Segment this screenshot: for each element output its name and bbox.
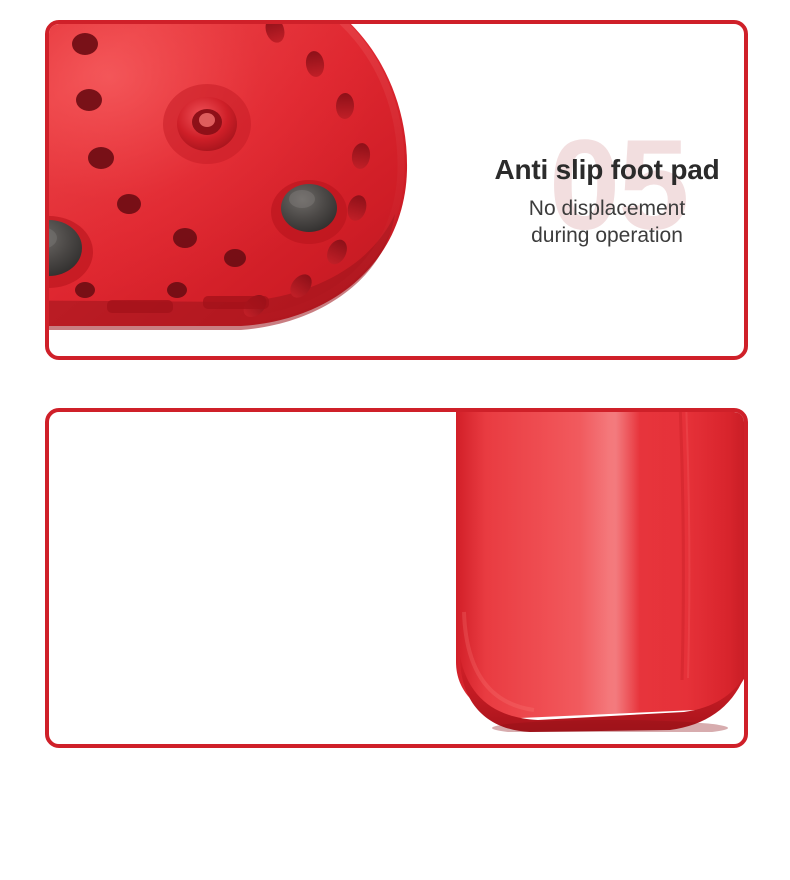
- feature-subtitle-line2-05: during operation: [442, 223, 748, 250]
- foot-pad-center: [271, 180, 347, 244]
- feature-subtitle-line1-05: No displacement: [442, 196, 748, 223]
- feature-heading-05: Anti slip foot pad: [442, 154, 748, 186]
- product-image-base-plate: [45, 20, 459, 350]
- feature-panel-06: 06 PP material shell High temperature re…: [45, 408, 748, 748]
- screw-boss: [163, 84, 251, 164]
- product-image-pp-shell: [434, 412, 748, 732]
- feature-text-05: Anti slip foot pad No displacement durin…: [442, 154, 748, 249]
- feature-panel-05: 05 Anti slip foot pad No displacement du…: [45, 20, 748, 360]
